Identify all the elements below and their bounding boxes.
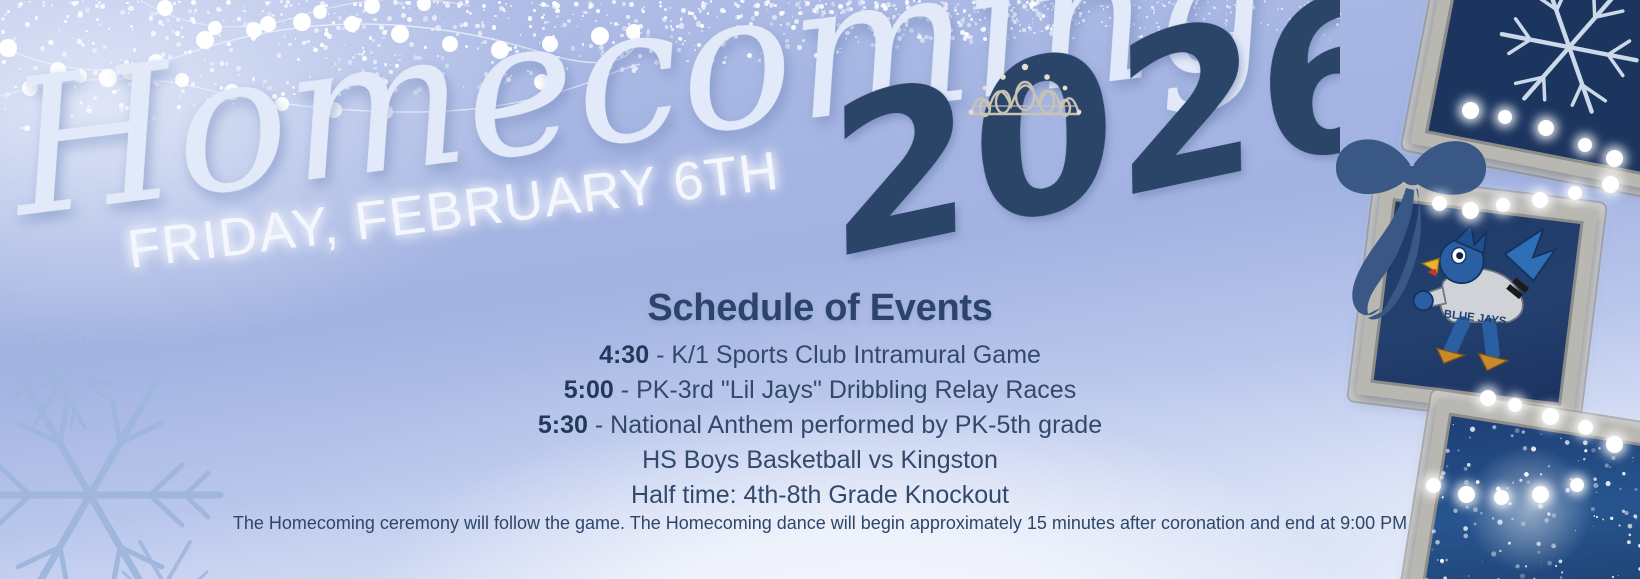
homecoming-banner: Homecoming FRIDAY, FEBRUARY 6TH 2026: [0, 0, 1640, 579]
string-light-dot: [1462, 202, 1479, 219]
schedule-event-row: 5:30 - National Anthem performed by PK-5…: [0, 408, 1640, 443]
string-light-dot: [1496, 198, 1510, 212]
event-description: K/1 Sports Club Intramural Game: [671, 341, 1041, 369]
string-light-dot: [1578, 138, 1592, 152]
string-light-dot: [1462, 102, 1479, 119]
schedule-event-row: 5:00 - PK-3rd "Lil Jays" Dribbling Relay…: [0, 373, 1640, 408]
string-light-dot: [1498, 110, 1512, 124]
snow-spray-icon: [0, 0, 1640, 150]
tiara-crown-icon: [965, 58, 1085, 120]
schedule-extra-line: HS Boys Basketball vs Kingston: [0, 443, 1640, 478]
schedule-block: Schedule of Events 4:30 - K/1 Sports Clu…: [0, 288, 1640, 513]
schedule-extra-line: Half time: 4th-8th Grade Knockout: [0, 478, 1640, 513]
string-light-dot: [1538, 120, 1554, 136]
schedule-heading: Schedule of Events: [0, 288, 1640, 330]
event-description: National Anthem performed by PK-5th grad…: [610, 411, 1102, 439]
event-dash: -: [656, 341, 664, 369]
snowflake-photo-frame: [1410, 0, 1640, 191]
event-dash: -: [621, 376, 629, 404]
event-time: 5:30: [538, 411, 588, 439]
string-light-dot: [1602, 176, 1619, 193]
event-time: 5:00: [564, 376, 614, 404]
event-dash: -: [595, 411, 603, 439]
string-light-dot: [1432, 196, 1447, 211]
string-lights-icon: [0, 0, 640, 130]
banner-date-line: FRIDAY, FEBRUARY 6TH: [124, 140, 783, 280]
string-light-dot: [1606, 150, 1623, 167]
event-time: 4:30: [599, 341, 649, 369]
schedule-event-row: 4:30 - K/1 Sports Club Intramural Game: [0, 338, 1640, 373]
string-light-dot: [1568, 186, 1582, 200]
schedule-footnote: The Homecoming ceremony will follow the …: [0, 513, 1640, 534]
event-description: PK-3rd "Lil Jays" Dribbling Relay Races: [636, 376, 1076, 404]
banner-script-title: Homecoming: [0, 0, 1281, 260]
string-light-dot: [1532, 192, 1548, 208]
banner-year: 2026: [804, 0, 1340, 300]
headline-group: Homecoming FRIDAY, FEBRUARY 6TH 2026: [0, 0, 1340, 300]
